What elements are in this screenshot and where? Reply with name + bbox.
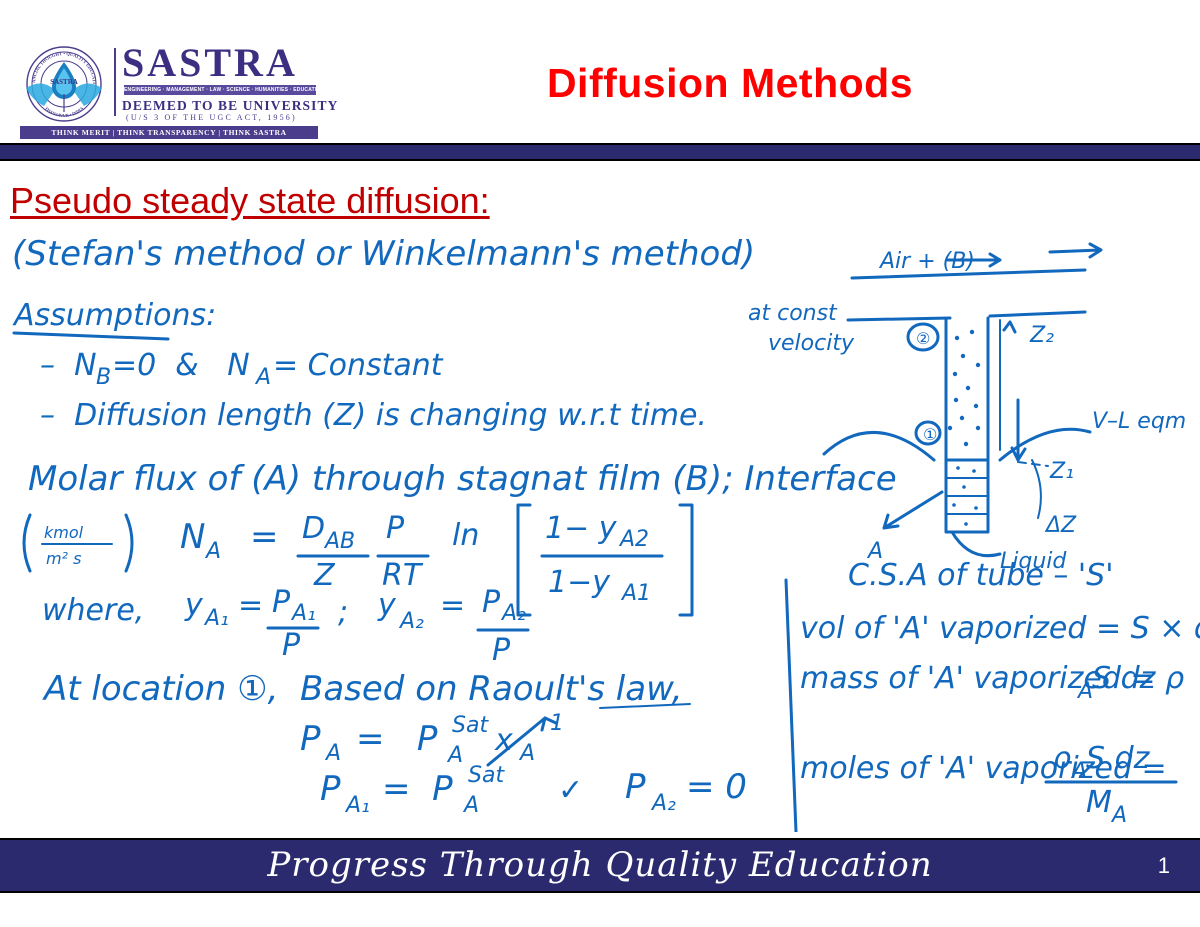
hw-method-names: (Stefan's method or Winkelmann's method) [12, 234, 755, 274]
hw-raoult-line: At location ①, Based on Raoult's law, [42, 669, 683, 709]
diagram-const-velocity-2: velocity [768, 331, 855, 356]
handwritten-annotation-layer: (Stefan's method or Winkelmann's method)… [0, 160, 1200, 832]
sastra-seal-icon: SASTRA FINANCIAL THOUGHT • QUALITY EDUCA… [22, 44, 106, 128]
hw-right-line-4-num: ρ [1052, 741, 1071, 776]
hw-right-line-3-sub: A [1076, 679, 1093, 704]
slide-header: SASTRA FINANCIAL THOUGHT • QUALITY EDUCA… [0, 0, 1200, 143]
hw-eq-D: D [302, 511, 325, 546]
diagram-vl-eqm-label: V–L eqm [1092, 409, 1186, 434]
hw-pa-sub: A [324, 741, 341, 766]
hw-assumption-1-mid: =0 & N [112, 348, 250, 383]
diagram-node-2: ② [916, 329, 930, 348]
hw-y2-num: P [482, 585, 501, 620]
hw-eq-P: P [386, 511, 405, 546]
hw-units-numerator: kmol [44, 523, 84, 542]
hw-eq-numerator: 1− y [545, 511, 618, 546]
hw-right-line-4-num-sub: A [1070, 759, 1087, 784]
hw-semicolon: ; [338, 595, 348, 630]
hw-pa2-sub: A₂ [650, 791, 676, 816]
diagram-dz-label: ΔZ [1044, 513, 1077, 538]
hw-assumptions-heading: Assumptions: [12, 298, 216, 333]
hw-units-paren-left [24, 515, 30, 571]
hw-y2-den: P [492, 633, 511, 668]
page-number: 1 [1158, 840, 1170, 891]
hw-assumption-1: – N [40, 348, 97, 383]
diagram-z1-label: Z₁ [1049, 459, 1074, 484]
hw-pa2-equals: = 0 [686, 767, 747, 807]
hw-units-paren-right [126, 515, 132, 571]
slide: SASTRA FINANCIAL THOUGHT • QUALITY EDUCA… [0, 0, 1200, 927]
diagram-duct-bottom-right [990, 312, 1085, 316]
hw-eq-numerator-sub: A2 [618, 527, 649, 552]
svg-text:SASTRA: SASTRA [50, 78, 78, 86]
diagram-const-velocity-1: at const [748, 301, 838, 326]
hw-eq-NA-sub: A [204, 539, 221, 564]
diagram-liquid-hatching [946, 478, 988, 514]
slide-footer: Progress Through Quality Education 1 [0, 838, 1200, 893]
hw-assumptions-underline [14, 333, 168, 339]
hw-flux-line: Molar flux of (A) through stagnat film (… [28, 459, 897, 499]
header-divider-bar [0, 143, 1200, 161]
diagram-flux-label-A: A [866, 539, 883, 564]
hw-pa1-equals: = P [382, 769, 453, 809]
diagram-z2-arrow [1004, 322, 1015, 332]
diagram-z2-label: Z₂ [1029, 323, 1054, 348]
hw-right-line-1: C.S.A of tube – 'S' [848, 558, 1113, 593]
hw-y1: y [184, 588, 204, 623]
sastra-deemed-line: DEEMED TO BE UNIVERSITY [122, 98, 338, 114]
diagram-dz-bracket [1032, 460, 1041, 518]
hw-assumption-1-subA: A [254, 365, 271, 390]
hw-eq-D-sub: AB [323, 529, 355, 554]
hw-eq-ln: ln [452, 518, 479, 553]
hw-pa-x-sub: A [518, 741, 535, 766]
hw-assumption-1-subB: B [96, 365, 111, 390]
diagram-liquid-leader [952, 532, 1000, 556]
hw-pa-suba: A [446, 743, 463, 768]
page-title: Diffusion Methods [360, 60, 1100, 107]
hw-assumption-2: – Diffusion length (Z) is changing w.r.t… [40, 398, 707, 433]
sastra-logo: SASTRA FINANCIAL THOUGHT • QUALITY EDUCA… [18, 42, 320, 137]
hw-checkmark: ✓ [558, 773, 583, 808]
hw-y2-num-sub: A₂ [500, 601, 526, 626]
hw-eq-NA: N [180, 517, 205, 557]
hw-right-line-4-num-end: S dz [1086, 741, 1151, 776]
hw-eq-equals: = [250, 517, 279, 557]
hw-y1-num: P [272, 585, 291, 620]
hw-column-separator [786, 580, 796, 832]
hw-pa-equals: = P [356, 719, 438, 759]
sastra-disciplines-bar: ENGINEERING · MANAGEMENT · LAW · SCIENCE… [124, 85, 316, 95]
hw-y2-equals: = [440, 588, 465, 623]
hw-pa1-suba: A [462, 793, 479, 818]
hw-eq-Z: Z [313, 558, 336, 593]
hw-y2: y [377, 588, 397, 623]
hw-pa1: P [320, 769, 341, 809]
hw-pa-sat: Sat [452, 713, 489, 738]
sastra-think-bar: THINK MERIT | THINK TRANSPARENCY | THINK… [20, 126, 318, 139]
hw-units-denominator: m² s [46, 549, 81, 568]
sastra-wordmark: SASTRA [122, 42, 298, 84]
hw-assumption-1-end: = Constant [273, 348, 444, 383]
hw-y2-sub: A₂ [398, 609, 424, 634]
hw-eq-bracket-left [518, 505, 530, 615]
diagram-liquid-label: Liquid [1000, 549, 1067, 574]
hw-right-line-4-den-sub: A [1110, 803, 1127, 828]
footer-tagline: Progress Through Quality Education [0, 840, 1200, 891]
hw-pa: P [300, 719, 321, 759]
hw-y1-equals: = [238, 588, 263, 623]
diagram-vl-leader [1000, 429, 1090, 460]
hw-where-label: where, [42, 593, 144, 628]
hw-right-line-3-end: S dz [1092, 661, 1157, 696]
hw-pa1-sat: Sat [468, 763, 505, 788]
diagram-node-1: ① [923, 425, 937, 444]
hw-pa1-sub: A₁ [344, 793, 370, 818]
hw-eq-bracket-right [680, 505, 692, 615]
hw-eq-denominator: 1−y [548, 565, 611, 600]
hw-y1-sub: A₁ [203, 606, 229, 631]
hw-y1-den: P [282, 628, 301, 663]
hw-pa2: P [625, 767, 646, 807]
hw-eq-denominator-sub: A1 [620, 581, 651, 606]
hw-right-line-4-den: M [1086, 785, 1112, 820]
diagram-air-arrow-2 [1050, 244, 1101, 257]
hw-y1-num-sub: A₁ [290, 601, 316, 626]
stefan-tube-diagram: Air + (B) at const velocity ② ① [748, 244, 1186, 574]
diagram-duct-bottom-left [848, 318, 950, 320]
sastra-ugc-note: (U/S 3 OF THE UGC ACT, 1956) [126, 113, 297, 122]
hw-right-line-2: vol of 'A' vaporized = S × dz [800, 611, 1200, 646]
logo-divider [114, 48, 116, 116]
